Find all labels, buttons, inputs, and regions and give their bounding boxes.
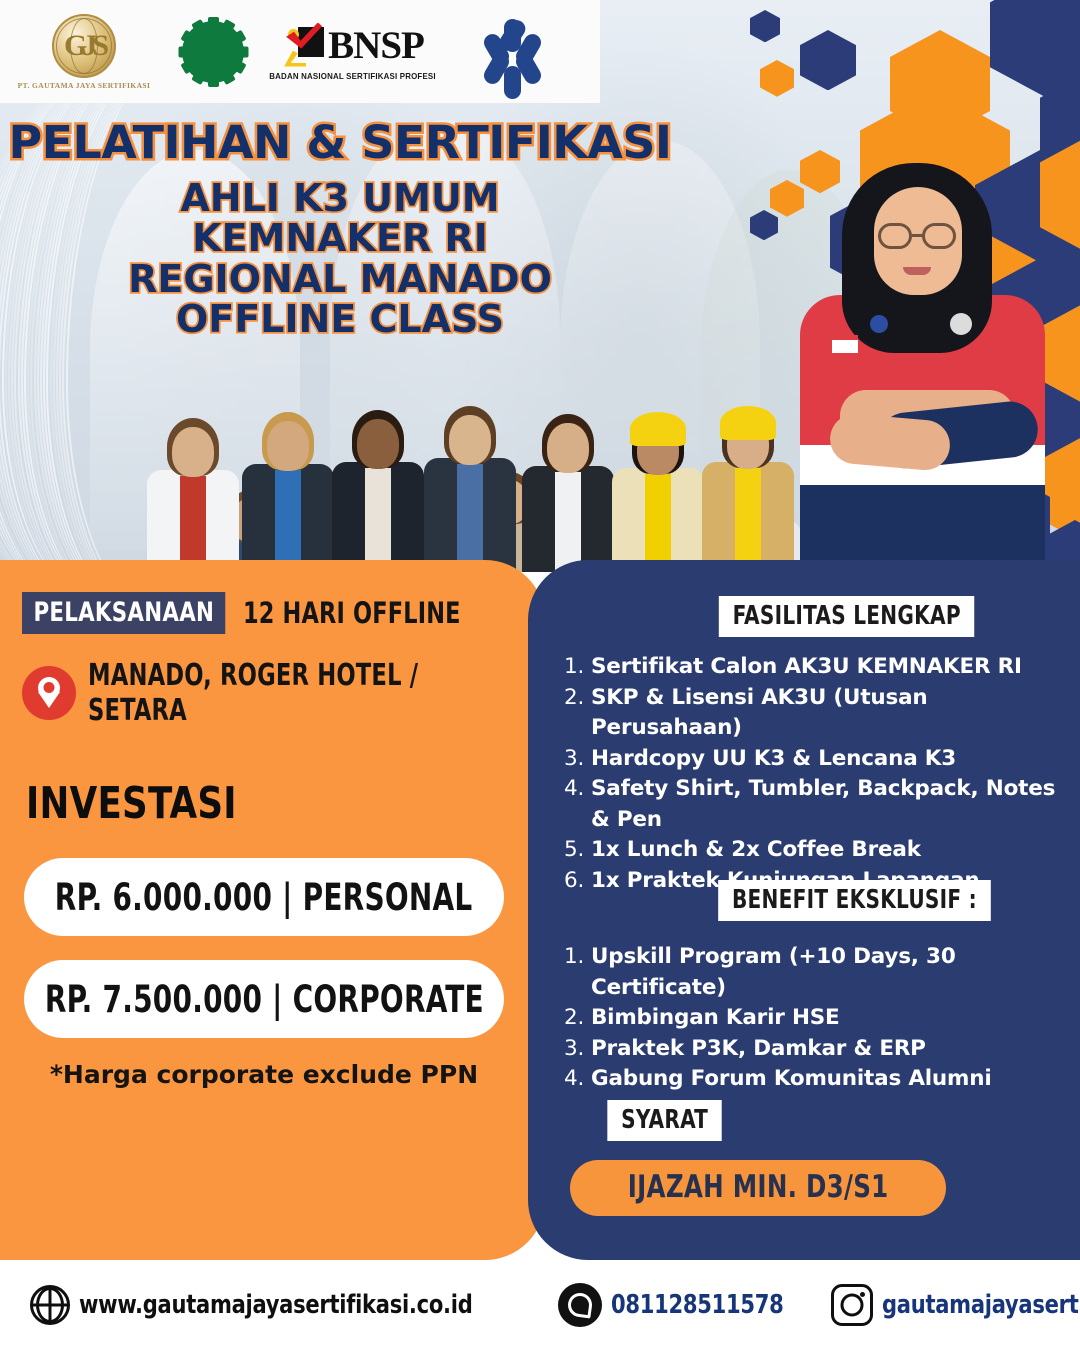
price-personal-text: RP. 6.000.000 | PERSONAL [55,876,473,919]
footer-whatsapp[interactable]: 081128511578 [558,1283,803,1327]
logo-strip: GJS PT. GAUTAMA JAYA SERTIFIKASI [0,0,600,103]
location-row: MANADO, ROGER HOTEL / SETARA [22,658,545,728]
group-photo-person [335,410,421,572]
hero-title-block: PELATIHAN & SERTIFIKASI AHLI K3 UMUM KEM… [0,120,680,339]
list-item: Safety Shirt, Tumbler, Backpack, Notes &… [564,774,1064,835]
subtitle-line: AHLI K3 UMUM [0,178,680,218]
group-photo-person [427,406,513,572]
whatsapp-text: 081128511578 [611,1290,784,1320]
list-item: Bimbingan Karir HSE [564,1003,1064,1034]
group-photo-person [615,416,701,572]
instagram-icon [831,1284,873,1326]
globe-emblem-icon: GJS [52,14,116,78]
bnsp-mark-icon [282,23,324,69]
facility-text: SKP & Lisensi AK3U (Utusan Perusahaan) [591,683,1064,744]
footer-instagram[interactable]: gautamajayasertifikasi [831,1284,1080,1326]
requirement-badge: IJAZAH MIN. D3/S1 [570,1160,946,1216]
facility-text: 1x Lunch & 2x Coffee Break [591,835,921,866]
whatsapp-icon [558,1283,602,1327]
group-photo-person [525,414,611,572]
facility-text: Hardcopy UU K3 & Lencana K3 [591,744,956,775]
list-item: Praktek P3K, Damkar & ERP [564,1034,1064,1065]
gear-cross-icon [182,21,244,83]
benefits-heading: BENEFIT EKSKLUSIF : [718,880,991,921]
hero-section: GJS PT. GAUTAMA JAYA SERTIFIKASI [0,0,1080,572]
price-note: *Harga corporate exclude PPN [0,1060,528,1089]
page-subtitle: AHLI K3 UMUM KEMNAKER RI REGIONAL MANADO… [0,178,680,339]
facilities-heading: FASILITAS LENGKAP [719,596,975,637]
list-item: Upskill Program (+10 Days, 30 Certificat… [564,942,1064,1003]
map-pin-icon [22,666,76,720]
investment-panel: PELAKSANAAN 12 HARI OFFLINE MANADO, ROGE… [0,560,545,1260]
facilities-list: Sertifikat Calon AK3U KEMNAKER RI SKP & … [564,652,1064,896]
benefits-list: Upskill Program (+10 Days, 30 Certificat… [564,942,1064,1095]
list-item: Hardcopy UU K3 & Lencana K3 [564,744,1064,775]
gautama-jaya-sertifikasi-logo: GJS PT. GAUTAMA JAYA SERTIFIKASI [0,14,168,90]
gjs-logo-caption: PT. GAUTAMA JAYA SERTIFIKASI [18,81,151,90]
facilities-panel: FASILITAS LENGKAP Sertifikat Calon AK3U … [528,560,1080,1260]
schedule-row: PELAKSANAAN 12 HARI OFFLINE [22,592,496,634]
benefit-text: Bimbingan Karir HSE [591,1003,840,1034]
benefit-text: Gabung Forum Komunitas Alumni [591,1064,992,1095]
poster-root: GJS PT. GAUTAMA JAYA SERTIFIKASI [0,0,1080,1350]
subtitle-line: OFFLINE CLASS [0,299,680,339]
kemnaker-mark-icon [480,19,546,85]
gjs-monogram: GJS [54,16,114,76]
list-item: 1x Lunch & 2x Coffee Break [564,835,1064,866]
requirement-value: IJAZAH MIN. D3/S1 [628,1169,889,1205]
k3-gear-logo [168,21,258,83]
investment-heading: INVESTASI [26,778,237,829]
facility-text: Sertifikat Calon AK3U KEMNAKER RI [591,652,1022,683]
group-photo-person [150,418,236,572]
hexagon-shape [800,30,856,90]
group-photo [55,340,775,572]
list-item: Gabung Forum Komunitas Alumni [564,1064,1064,1095]
footer-website[interactable]: www.gautamajayasertifikasi.co.id [30,1285,516,1325]
subtitle-line: KEMNAKER RI [0,218,680,258]
page-title: PELATIHAN & SERTIFIKASI [0,120,687,165]
instructor-photo [770,155,1070,572]
facility-text: Safety Shirt, Tumbler, Backpack, Notes &… [591,774,1064,835]
kemnaker-logo [448,19,578,85]
price-card-corporate[interactable]: RP. 7.500.000 | CORPORATE [24,960,504,1038]
instagram-text: gautamajayasertifikasi [882,1290,1080,1320]
location-value: MANADO, ROGER HOTEL / SETARA [88,658,472,728]
footer-contact-bar: www.gautamajayasertifikasi.co.id 0811285… [0,1260,1080,1350]
bnsp-logo-caption: BADAN NASIONAL SERTIFIKASI PROFESI [270,71,436,81]
bnsp-wordmark: BNSP [328,27,424,64]
subtitle-line: REGIONAL MANADO [0,259,680,299]
list-item: Sertifikat Calon AK3U KEMNAKER RI [564,652,1064,683]
hexagon-shape [750,10,780,42]
list-item: SKP & Lisensi AK3U (Utusan Perusahaan) [564,683,1064,744]
hexagon-shape [760,60,794,97]
globe-icon [30,1285,70,1325]
price-card-personal[interactable]: RP. 6.000.000 | PERSONAL [24,858,504,936]
schedule-label-badge: PELAKSANAAN [22,592,226,634]
benefit-text: Praktek P3K, Damkar & ERP [591,1034,926,1065]
bnsp-logo: BNSP BADAN NASIONAL SERTIFIKASI PROFESI [258,23,448,81]
benefit-text: Upskill Program (+10 Days, 30 Certificat… [591,942,1064,1003]
website-text: www.gautamajayasertifikasi.co.id [79,1290,472,1320]
group-photo-person [245,412,331,572]
price-corporate-text: RP. 7.500.000 | CORPORATE [44,978,483,1021]
requirement-heading: SYARAT [607,1100,722,1141]
schedule-value: 12 HARI OFFLINE [243,596,461,630]
